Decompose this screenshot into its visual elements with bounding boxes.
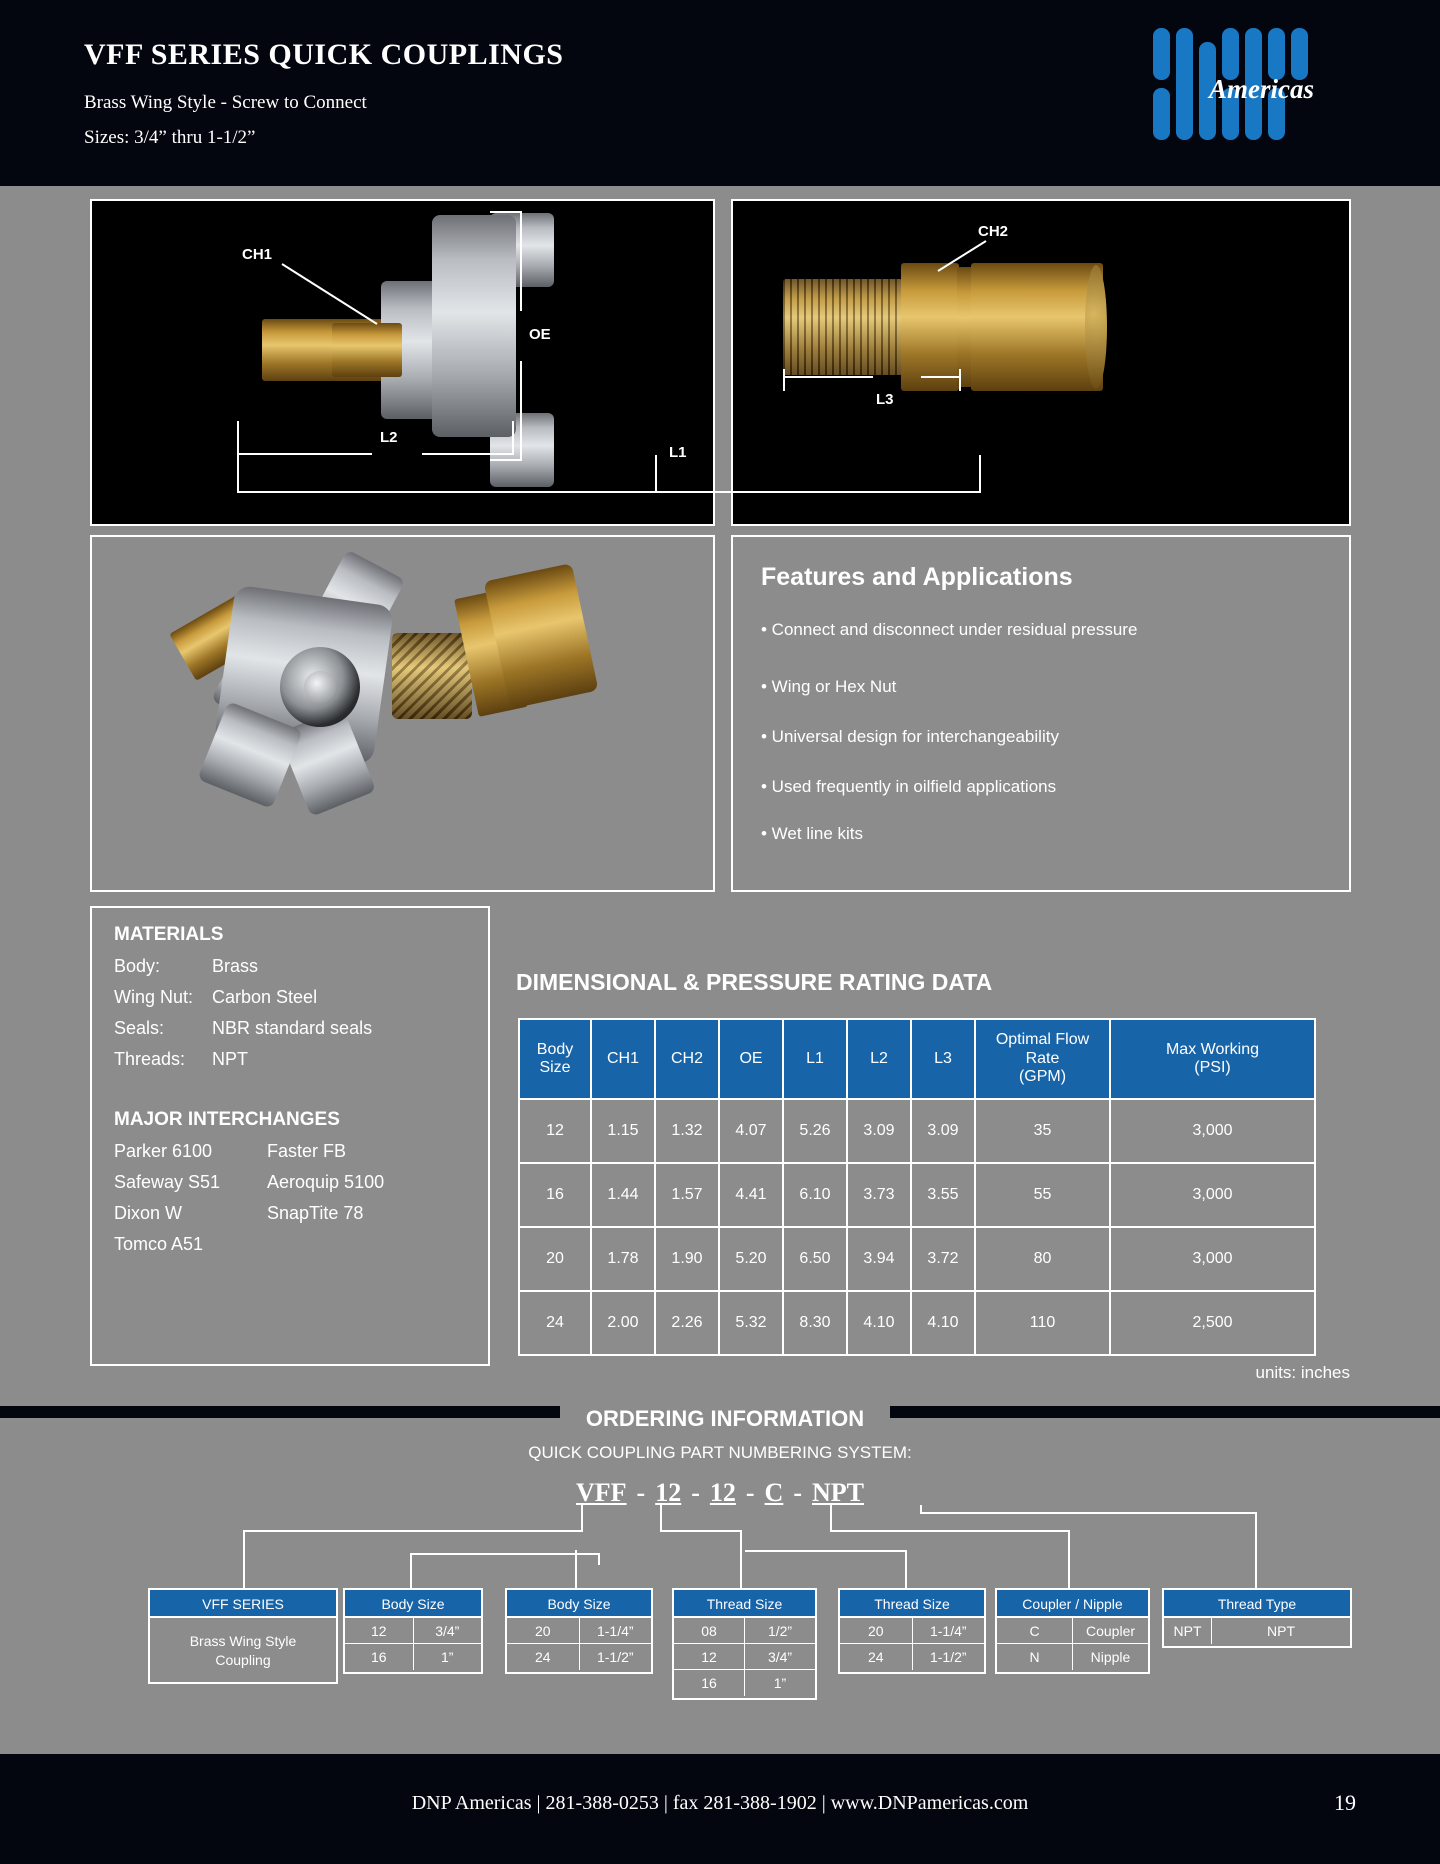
cell-max-working: 3,000	[1110, 1099, 1315, 1163]
ordering-code: 24	[840, 1644, 913, 1670]
ordering-value: Coupler	[1073, 1618, 1148, 1643]
feature-item: • Connect and disconnect under residual …	[761, 620, 1137, 640]
ch1-leader-line	[272, 256, 402, 336]
ordering-value: 1”	[414, 1644, 482, 1670]
pn-dash: -	[783, 1478, 812, 1507]
l2-dim-tick-left	[237, 421, 239, 455]
coupler-diagram-panel: CH1 OE L2 L1	[90, 199, 715, 526]
ordering-code: 08	[674, 1618, 745, 1643]
feature-item: • Wing or Hex Nut	[761, 677, 896, 697]
interchange-left: Parker 6100	[114, 1141, 212, 1162]
materials-label: Body:	[114, 956, 160, 977]
materials-value: NBR standard seals	[212, 1018, 372, 1039]
ordering-box-header: Body Size	[345, 1590, 481, 1618]
ordering-code: N	[997, 1644, 1073, 1670]
cell-ch1: 1.44	[591, 1163, 655, 1227]
ordering-row: 20 1-1/4”	[507, 1618, 651, 1644]
cell-l1: 8.30	[783, 1291, 847, 1355]
cell-max-working: 2,500	[1110, 1291, 1315, 1355]
cell-oe: 4.07	[719, 1099, 783, 1163]
l1-dim-line-continued	[627, 491, 981, 493]
interchange-right: Faster FB	[267, 1141, 346, 1162]
ordering-row: 16 1”	[674, 1670, 815, 1696]
ordering-box-body-size-1: Body Size 12 3/4” 16 1”	[343, 1588, 483, 1674]
cell-body-size: 24	[519, 1291, 591, 1355]
cell-l3: 3.09	[911, 1099, 975, 1163]
pn-series: VFF	[576, 1478, 627, 1507]
ordering-code: 20	[840, 1618, 913, 1643]
ordering-code: C	[997, 1618, 1073, 1643]
ordering-row: NPT NPT	[1164, 1618, 1350, 1644]
ordering-code: 12	[345, 1618, 414, 1643]
table-col-header-max-working: Max Working(PSI)	[1110, 1019, 1315, 1099]
product-photo-panel	[90, 535, 715, 892]
connector-vff-horiz	[243, 1530, 583, 1532]
pn-thread-type: NPT	[812, 1478, 864, 1507]
ordering-row: 24 1-1/2”	[507, 1644, 651, 1670]
connector-coupler-stem	[830, 1505, 832, 1532]
cell-ch1: 1.78	[591, 1227, 655, 1291]
ordering-code: 24	[507, 1644, 580, 1670]
footer-contact-info: DNP Americas | 281-388-0253 | fax 281-38…	[0, 1792, 1440, 1815]
table-units-note: units: inches	[1256, 1363, 1351, 1383]
ordering-row: 20 1-1/4”	[840, 1618, 984, 1644]
ordering-row: 12 3/4”	[674, 1644, 815, 1670]
nipple-end-face	[1085, 265, 1107, 389]
table-row: 24 2.00 2.26 5.32 8.30 4.10 4.10 110 2,5…	[519, 1291, 1315, 1355]
connector-thread-size-1-horiz	[660, 1530, 742, 1532]
label-l2: L2	[380, 429, 398, 446]
label-l3: L3	[876, 391, 894, 408]
interchanges-title: MAJOR INTERCHANGES	[114, 1109, 340, 1131]
ordering-value: 1”	[745, 1670, 815, 1696]
feature-item: • Wet line kits	[761, 824, 863, 844]
dimensional-data-table: BodySize CH1 CH2 OE L1 L2 L3 Optimal Flo…	[518, 1018, 1316, 1356]
page-number: 19	[1334, 1790, 1356, 1816]
feature-item: • Universal design for interchangeabilit…	[761, 727, 1059, 747]
oe-dim-line-upper	[520, 211, 522, 311]
ordering-box-thread-type: Thread Type NPT NPT	[1162, 1588, 1352, 1648]
features-panel: Features and Applications • Connect and …	[731, 535, 1351, 892]
cell-l3: 3.55	[911, 1163, 975, 1227]
cell-flow-rate: 35	[975, 1099, 1110, 1163]
materials-label: Threads:	[114, 1049, 185, 1070]
ordering-title: ORDERING INFORMATION	[560, 1404, 890, 1434]
ordering-value: Nipple	[1073, 1644, 1148, 1670]
table-col-header-ch1: CH1	[591, 1019, 655, 1099]
ordering-box-body: Brass Wing StyleCoupling	[150, 1618, 336, 1684]
ordering-row: 08 1/2”	[674, 1618, 815, 1644]
ordering-code: 16	[674, 1670, 745, 1696]
connector-thread-size-2-horiz	[745, 1550, 907, 1552]
ordering-box-coupler-nipple: Coupler / Nipple C Coupler N Nipple	[995, 1588, 1150, 1674]
header-subtitle-style: Brass Wing Style - Screw to Connect	[84, 92, 367, 114]
page-header: VFF SERIES QUICK COUPLINGS Brass Wing St…	[0, 0, 1440, 186]
features-title: Features and Applications	[761, 563, 1073, 592]
ordering-box-header: Thread Size	[674, 1590, 815, 1618]
ordering-code: 20	[507, 1618, 580, 1643]
page-title: VFF SERIES QUICK COUPLINGS	[84, 38, 563, 72]
l1-dim-tick-left	[237, 455, 239, 493]
interchange-right: Aeroquip 5100	[267, 1172, 384, 1193]
ordering-value: 1-1/2”	[580, 1644, 652, 1670]
cell-ch2: 1.90	[655, 1227, 719, 1291]
cell-body-size: 12	[519, 1099, 591, 1163]
l3-dim-tick-left	[783, 369, 785, 391]
connector-thread-size-1-stem	[660, 1505, 662, 1532]
ch2-leader-line	[928, 237, 998, 277]
cell-l2: 3.09	[847, 1099, 911, 1163]
materials-value: Carbon Steel	[212, 987, 317, 1008]
nipple-barrel	[971, 263, 1103, 391]
cell-body-size: 20	[519, 1227, 591, 1291]
oe-dim-tick-bottom	[490, 459, 522, 461]
ordering-box-body-size-2: Body Size 20 1-1/4” 24 1-1/2”	[505, 1588, 653, 1674]
table-col-header-ch2: CH2	[655, 1019, 719, 1099]
ordering-row: C Coupler	[997, 1618, 1148, 1644]
connector-thread-type-stem	[920, 1505, 922, 1514]
ordering-box-vff-series: VFF SERIES Brass Wing StyleCoupling	[148, 1588, 338, 1684]
materials-label: Wing Nut:	[114, 987, 193, 1008]
ordering-box-header: Thread Size	[840, 1590, 984, 1618]
pn-dash: -	[681, 1478, 710, 1507]
cell-max-working: 3,000	[1110, 1227, 1315, 1291]
cell-ch2: 1.57	[655, 1163, 719, 1227]
table-row: 20 1.78 1.90 5.20 6.50 3.94 3.72 80 3,00…	[519, 1227, 1315, 1291]
cell-l2: 3.94	[847, 1227, 911, 1291]
label-ch1: CH1	[242, 246, 272, 263]
pn-dash: -	[627, 1478, 656, 1507]
ordering-box-header: Thread Type	[1164, 1590, 1350, 1618]
cell-ch1: 1.15	[591, 1099, 655, 1163]
cell-ch2: 1.32	[655, 1099, 719, 1163]
part-number-example: VFF-12-12-C-NPT	[0, 1478, 1440, 1508]
cell-flow-rate: 110	[975, 1291, 1110, 1355]
page-footer: DNP Americas | 281-388-0253 | fax 281-38…	[0, 1754, 1440, 1864]
cell-l3: 4.10	[911, 1291, 975, 1355]
label-oe: OE	[529, 326, 551, 343]
l1-dim-tick-far-right	[979, 455, 981, 493]
l2-dim-line-right	[422, 453, 514, 455]
nipple-threaded-end	[783, 279, 903, 375]
connector-vff-stem	[581, 1505, 583, 1532]
materials-label: Seals:	[114, 1018, 164, 1039]
table-header-row: BodySize CH1 CH2 OE L1 L2 L3 Optimal Flo…	[519, 1019, 1315, 1099]
cell-oe: 5.32	[719, 1291, 783, 1355]
ordering-value: 1-1/2”	[913, 1644, 985, 1670]
cell-l2: 4.10	[847, 1291, 911, 1355]
table-row: 16 1.44 1.57 4.41 6.10 3.73 3.55 55 3,00…	[519, 1163, 1315, 1227]
feature-item: • Used frequently in oilfield applicatio…	[761, 777, 1056, 797]
table-col-header-flow-rate: Optimal FlowRate(GPM)	[975, 1019, 1110, 1099]
dimensional-data-title: DIMENSIONAL & PRESSURE RATING DATA	[516, 969, 992, 996]
materials-title: MATERIALS	[114, 924, 223, 946]
table-col-header-l2: L2	[847, 1019, 911, 1099]
cell-l1: 6.10	[783, 1163, 847, 1227]
materials-value: Brass	[212, 956, 258, 977]
table-col-header-l3: L3	[911, 1019, 975, 1099]
l2-dim-line-left	[237, 453, 372, 455]
ordering-value: NPT	[1212, 1618, 1350, 1644]
ordering-subtitle: QUICK COUPLING PART NUMBERING SYSTEM:	[0, 1443, 1440, 1463]
ordering-value: 3/4”	[745, 1644, 815, 1669]
connector-body-size-1-horiz	[410, 1553, 600, 1555]
cell-max-working: 3,000	[1110, 1163, 1315, 1227]
pn-coupler-nipple: C	[765, 1478, 784, 1507]
label-l1: L1	[669, 444, 687, 461]
pn-dash: -	[736, 1478, 765, 1507]
ordering-code: 16	[345, 1644, 414, 1670]
connector-thread-type-horiz	[920, 1512, 1257, 1514]
connector-body-size-1-stem	[598, 1553, 600, 1565]
l3-dim-tick-right	[959, 369, 961, 391]
pn-thread-size: 12	[710, 1478, 736, 1507]
interchange-left: Dixon W	[114, 1203, 182, 1224]
photo-nipple-threads	[392, 633, 472, 719]
ordering-box-header: Body Size	[507, 1590, 651, 1618]
ordering-value: 1-1/4”	[580, 1618, 652, 1643]
cell-flow-rate: 80	[975, 1227, 1110, 1291]
pn-body-size: 12	[655, 1478, 681, 1507]
ordering-value: 3/4”	[414, 1618, 482, 1643]
cell-body-size: 16	[519, 1163, 591, 1227]
cell-l2: 3.73	[847, 1163, 911, 1227]
materials-panel: MATERIALS Body: Brass Wing Nut: Carbon S…	[90, 906, 490, 1366]
cell-oe: 4.41	[719, 1163, 783, 1227]
cell-flow-rate: 55	[975, 1163, 1110, 1227]
l1-dim-tick-right	[655, 455, 657, 493]
oe-dim-tick-top	[490, 211, 522, 213]
photo-coupler-poppet	[304, 671, 336, 703]
interchange-left: Safeway S51	[114, 1172, 220, 1193]
oe-dim-line-lower	[520, 361, 522, 461]
l1-dim-line	[237, 491, 657, 493]
interchange-left: Tomco A51	[114, 1234, 203, 1255]
cell-ch1: 2.00	[591, 1291, 655, 1355]
cell-ch2: 2.26	[655, 1291, 719, 1355]
ordering-code: 12	[674, 1644, 745, 1669]
materials-value: NPT	[212, 1049, 248, 1070]
table-col-header-l1: L1	[783, 1019, 847, 1099]
nipple-hex-flats	[901, 263, 959, 391]
table-row: 12 1.15 1.32 4.07 5.26 3.09 3.09 35 3,00…	[519, 1099, 1315, 1163]
l3-dim-line-left	[783, 376, 873, 378]
connector-coupler-horiz	[830, 1530, 1070, 1532]
coupler-wing-center	[432, 215, 516, 437]
table-col-header-oe: OE	[719, 1019, 783, 1099]
cell-l1: 6.50	[783, 1227, 847, 1291]
header-subtitle-sizes: Sizes: 3/4” thru 1-1/2”	[84, 127, 256, 149]
ordering-box-thread-size-1: Thread Size 08 1/2” 12 3/4” 16 1”	[672, 1588, 817, 1700]
ordering-code: NPT	[1164, 1618, 1212, 1644]
table-col-header-body-size: BodySize	[519, 1019, 591, 1099]
cell-l3: 3.72	[911, 1227, 975, 1291]
nipple-diagram-panel: CH2 L3	[731, 199, 1351, 526]
logo-wordmark: Americas	[1209, 74, 1314, 105]
ordering-box-thread-size-2: Thread Size 20 1-1/4” 24 1-1/2”	[838, 1588, 986, 1674]
l3-dim-line-right	[921, 376, 961, 378]
cell-oe: 5.20	[719, 1227, 783, 1291]
ordering-row: 16 1”	[345, 1644, 481, 1670]
ordering-box-header: Coupler / Nipple	[997, 1590, 1148, 1618]
ordering-row: 12 3/4”	[345, 1618, 481, 1644]
interchange-right: SnapTite 78	[267, 1203, 363, 1224]
ordering-row: N Nipple	[997, 1644, 1148, 1670]
cell-l1: 5.26	[783, 1099, 847, 1163]
l2-dim-tick-right	[512, 421, 514, 455]
dnp-americas-logo: Americas	[1147, 20, 1362, 150]
ordering-box-header: VFF SERIES	[150, 1590, 336, 1618]
ordering-value: 1-1/4”	[913, 1618, 985, 1643]
ordering-row: 24 1-1/2”	[840, 1644, 984, 1670]
ordering-value: 1/2”	[745, 1618, 815, 1643]
